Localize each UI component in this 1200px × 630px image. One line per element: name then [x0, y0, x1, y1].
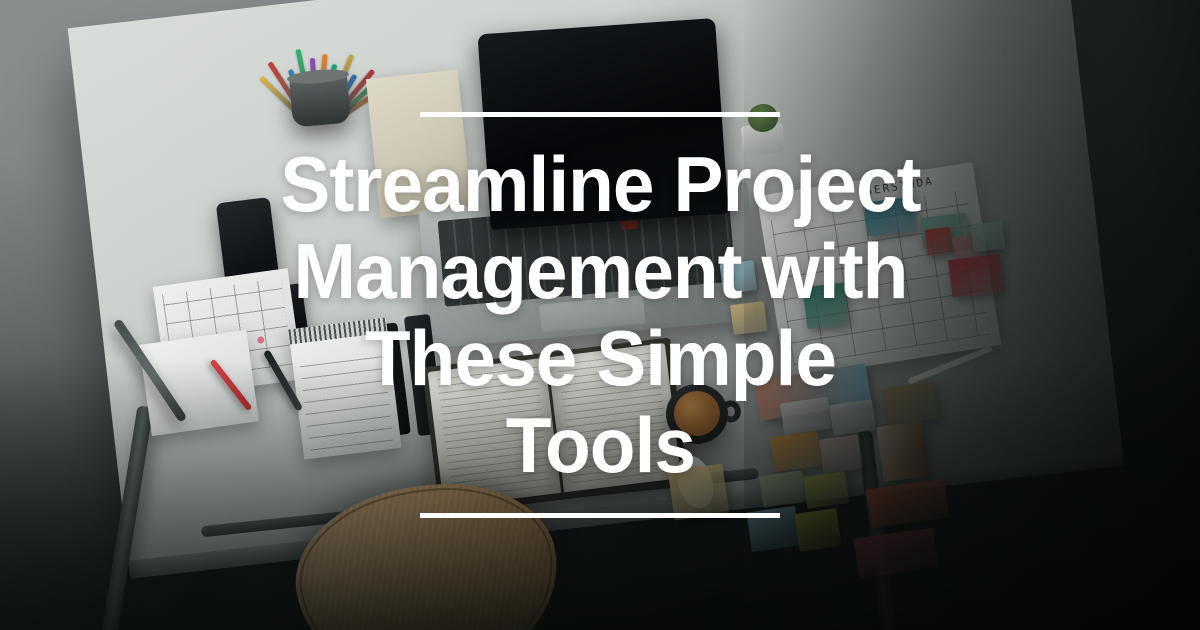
headline-overlay: Streamline Project Management with These…	[0, 0, 1200, 630]
bottom-divider	[420, 513, 780, 518]
top-divider	[420, 112, 780, 117]
headline-line-3: These Simple	[280, 315, 920, 402]
headline-line-2: Management with	[280, 228, 920, 315]
headline-line-4: Tools	[280, 402, 920, 489]
page-title: Streamline Project Management with These…	[280, 141, 920, 489]
hero-banner: SERSTUDA	[0, 0, 1200, 630]
headline-line-1: Streamline Project	[280, 141, 920, 228]
